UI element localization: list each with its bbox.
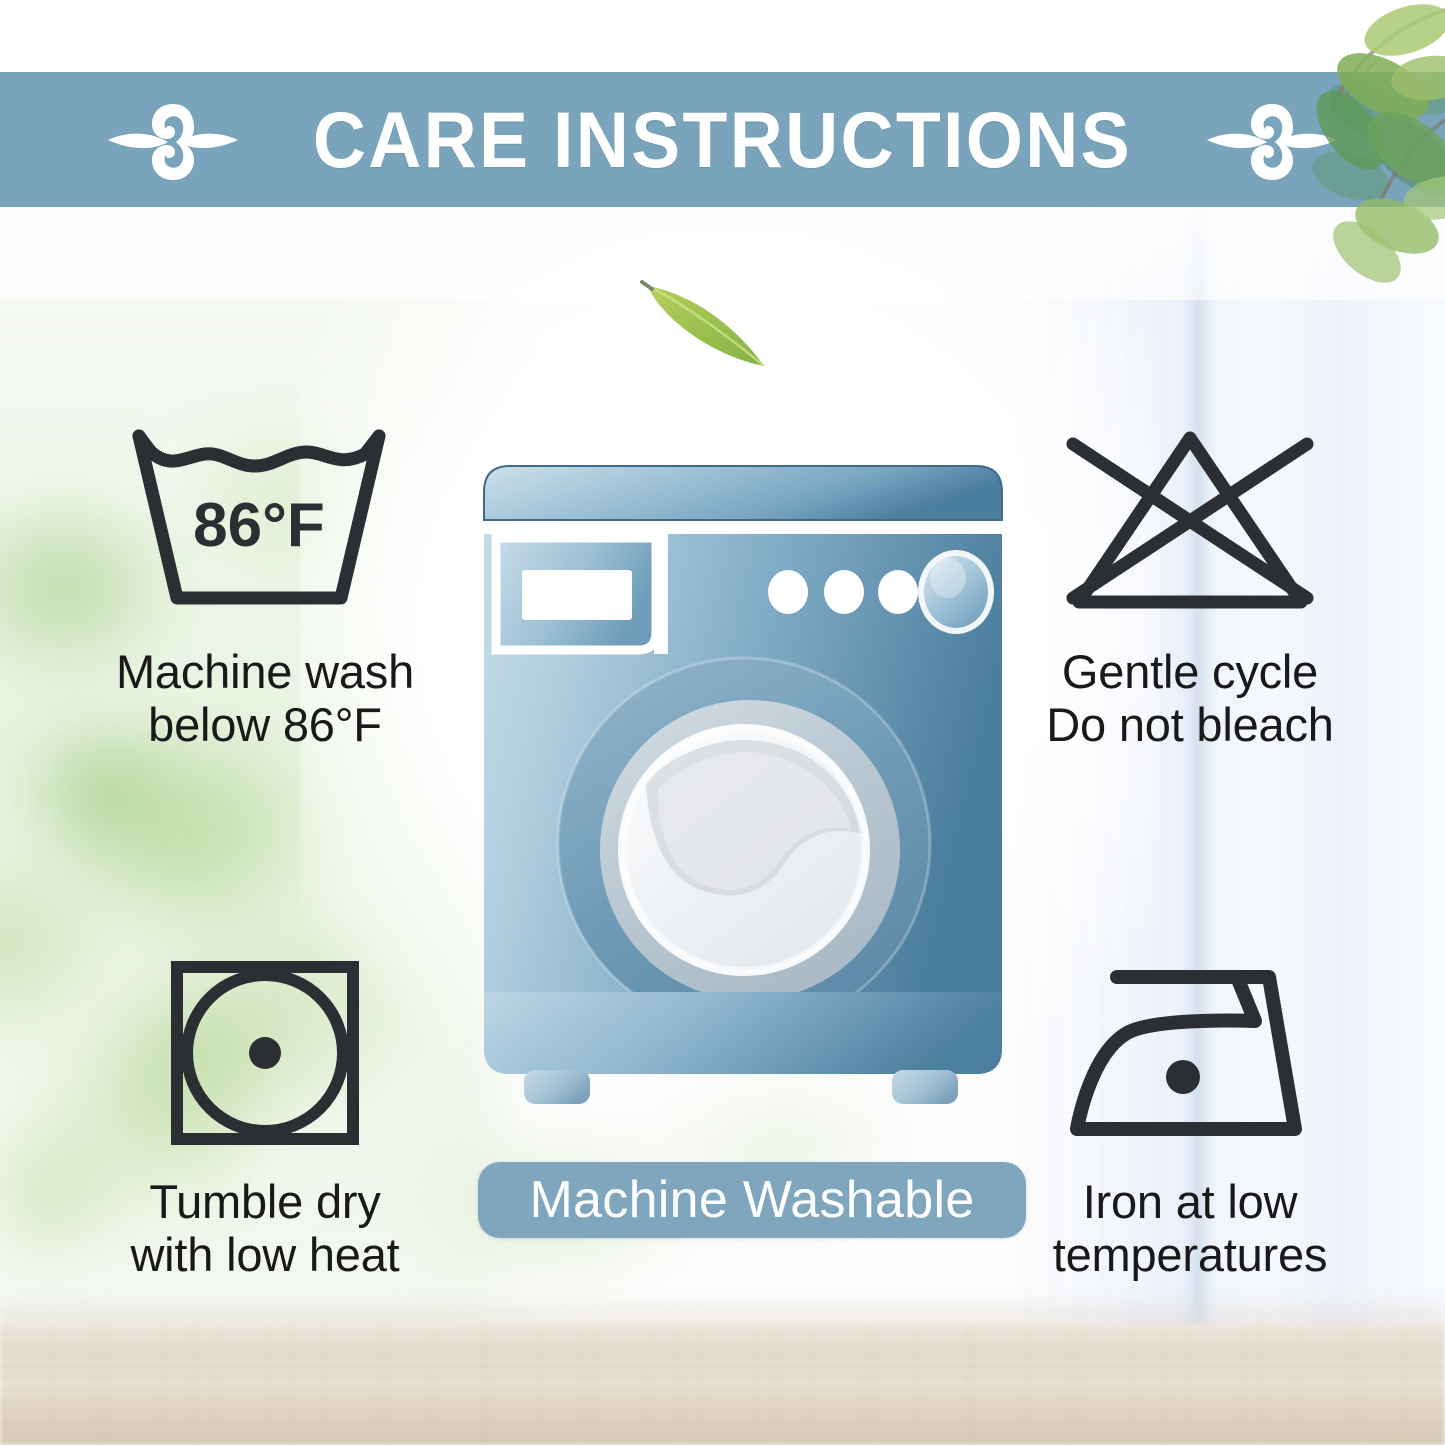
panel-divider xyxy=(654,532,668,654)
machine-washable-badge: Machine Washable xyxy=(478,1162,1026,1238)
do-not-bleach-glyph xyxy=(955,420,1425,620)
machine-foot-left xyxy=(524,1070,590,1104)
fleur-de-lis-icon-right xyxy=(1197,98,1347,182)
indicator-light-1 xyxy=(768,570,808,614)
iron-one-dot-icon xyxy=(1059,959,1321,1147)
wash-temperature-label: 86°F xyxy=(193,491,325,560)
wash-tub-glyph: 86°F xyxy=(30,420,500,620)
do-not-bleach-caption: Gentle cycle Do not bleach xyxy=(955,646,1425,751)
care-symbol-do-not-bleach: Gentle cycle Do not bleach xyxy=(955,420,1425,751)
iron-glyph xyxy=(955,955,1425,1150)
floating-leaf-icon xyxy=(636,268,816,388)
tumble-dry-caption: Tumble dry with low heat xyxy=(30,1176,500,1281)
indicator-light-3 xyxy=(878,570,918,614)
care-symbol-iron: Iron at low temperatures xyxy=(955,955,1425,1281)
background-wood-grain xyxy=(0,1323,1445,1445)
care-symbol-machine-wash: 86°F Machine wash below 86°F xyxy=(30,420,500,751)
care-symbol-tumble-dry: Tumble dry with low heat xyxy=(30,955,500,1281)
washing-machine-illustration xyxy=(478,452,1008,1137)
wash-tub-icon: 86°F xyxy=(125,422,405,618)
triangle-crossed-out-icon xyxy=(1055,422,1325,618)
tumble-dry-low-icon xyxy=(165,957,365,1149)
machine-washable-label: Machine Washable xyxy=(529,1170,974,1230)
care-instructions-banner: CARE INSTRUCTIONS xyxy=(0,72,1445,207)
background-table-shadow xyxy=(0,1293,1445,1327)
banner-title: CARE INSTRUCTIONS xyxy=(313,100,1132,179)
indicator-light-2 xyxy=(824,570,864,614)
tumble-dry-glyph xyxy=(30,955,500,1150)
machine-lid xyxy=(484,466,1002,520)
fleur-de-lis-icon-left xyxy=(98,98,248,182)
machine-lower-panel xyxy=(484,992,1002,1074)
machine-foot-right xyxy=(892,1070,958,1104)
detergent-drawer-slot xyxy=(522,570,632,620)
machine-wash-caption: Machine wash below 86°F xyxy=(30,646,500,751)
